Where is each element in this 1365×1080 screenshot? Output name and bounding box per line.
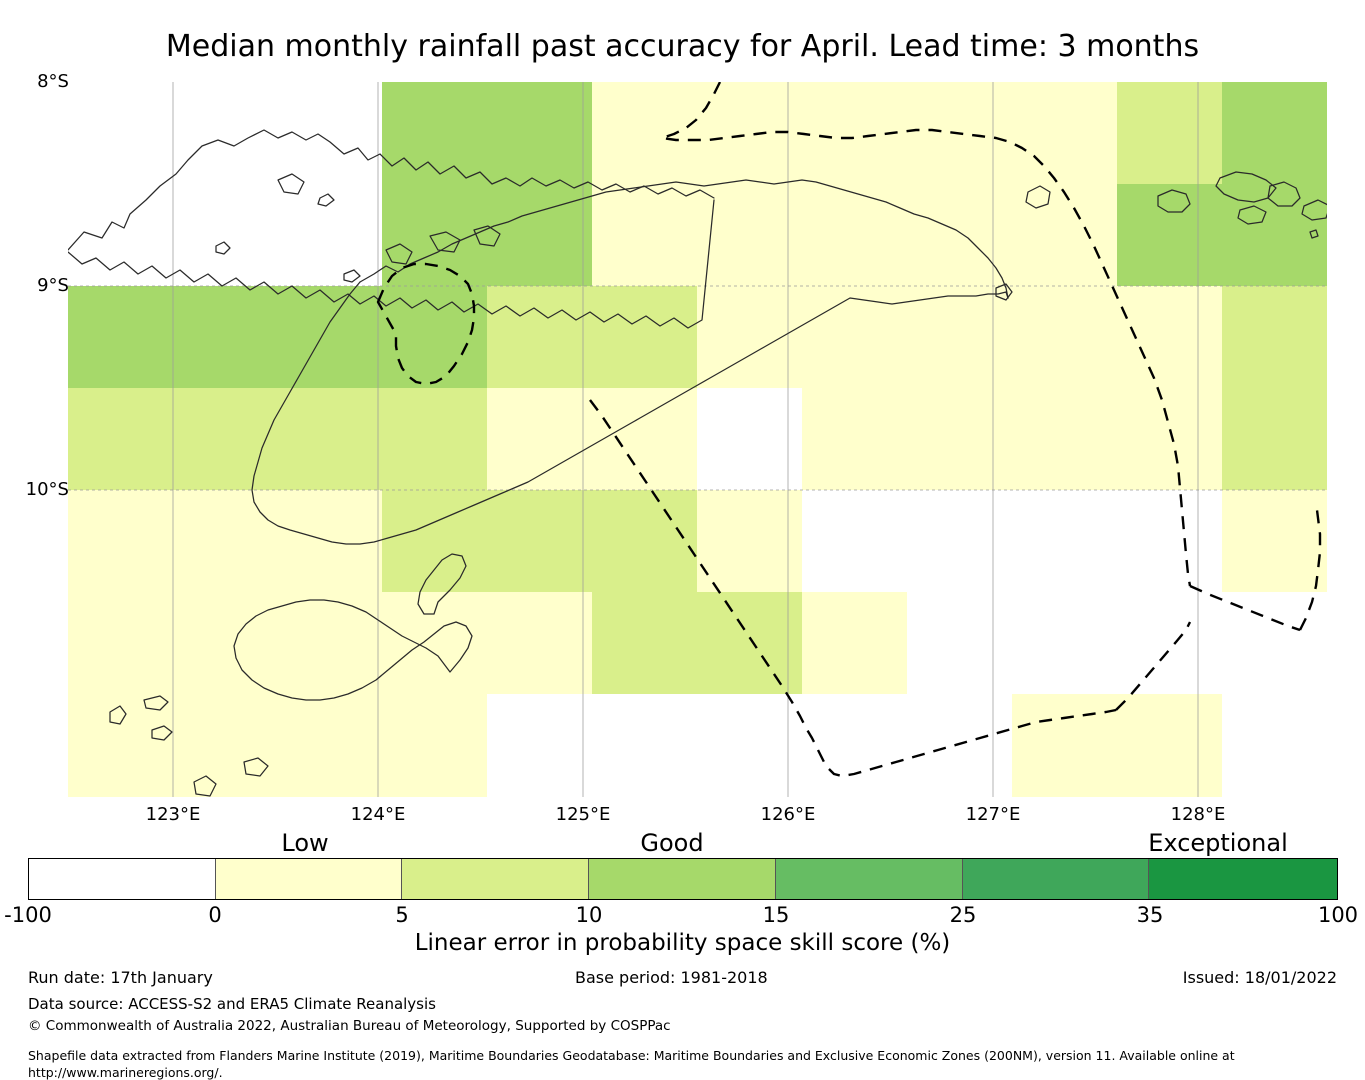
heatmap-cell [277,388,383,491]
heatmap-cell [487,388,593,491]
heatmap-cell [172,490,278,593]
colorbar-quality-label: Good [640,830,703,856]
heatmap-cell-grid [68,82,1327,797]
x-axis-tick-label: 126°E [761,806,816,824]
heatmap-cell [1222,490,1327,593]
heatmap-cell [68,694,173,797]
heatmap-cell [1117,592,1223,695]
heatmap-cell [907,490,1013,593]
heatmap-cell [382,592,488,695]
x-axis-tick-label: 128°E [1171,806,1226,824]
heatmap-cell [907,184,1013,287]
heatmap-cell [1012,82,1118,185]
heatmap-cell [1222,82,1327,185]
heatmap-cell [1222,286,1327,389]
shapefile-credit-line-1: Shapefile data extracted from Flanders M… [28,1048,1235,1063]
colorbar-tick-label: 35 [1137,904,1164,926]
heatmap-cell [277,592,383,695]
map-plot-area [68,82,1327,797]
heatmap-cell [1222,592,1327,695]
heatmap-cell [487,286,593,389]
heatmap-cell [487,490,593,593]
heatmap-cell [382,184,488,287]
x-axis-tick-label: 124°E [351,806,406,824]
heatmap-cell [172,388,278,491]
heatmap-cell [68,592,173,695]
heatmap-cell [907,694,1013,797]
colorbar-segment [1149,859,1337,899]
heatmap-cell [1012,184,1118,287]
heatmap-cell [802,286,908,389]
colorbar-segment [963,859,1150,899]
issued-date-text: Issued: 18/01/2022 [1183,969,1337,987]
colorbar-tick-label: 100 [1318,904,1358,926]
heatmap-cell [592,490,698,593]
y-axis-tick-label: 9°S [37,277,69,295]
heatmap-cell [592,82,698,185]
heatmap-cell [697,286,803,389]
footer: Run date: 17th January Base period: 1981… [0,965,1365,1080]
heatmap-cell [1117,388,1223,491]
heatmap-cell [382,490,488,593]
heatmap-cell [907,592,1013,695]
page-title: Median monthly rainfall past accuracy fo… [0,30,1365,64]
colorbar-tick-label: 15 [763,904,790,926]
heatmap-cell [1117,286,1223,389]
heatmap-cell [172,694,278,797]
colorbar-tick-label: 10 [576,904,603,926]
heatmap-cell [382,286,488,389]
shapefile-credit-line-2: http://www.marineregions.org/. [28,1065,223,1080]
heatmap-cell [172,184,278,287]
heatmap-cell [802,184,908,287]
heatmap-cell [1117,694,1223,797]
heatmap-cell [1012,388,1118,491]
colorbar-segment [29,859,216,899]
colorbar [28,858,1338,900]
heatmap-cell [802,592,908,695]
heatmap-cell [68,184,173,287]
colorbar-segment [776,859,963,899]
heatmap-cell [802,490,908,593]
heatmap-cell [1117,82,1223,185]
heatmap-cell [592,592,698,695]
y-axis-tick-label: 8°S [37,73,69,91]
heatmap-cell [172,592,278,695]
heatmap-cell [382,388,488,491]
heatmap-cell [1012,490,1118,593]
x-axis-tick-label: 123°E [146,806,201,824]
heatmap-cell [487,694,593,797]
colorbar-segment [402,859,589,899]
colorbar-segment [589,859,776,899]
heatmap-cell [1222,388,1327,491]
data-source-text: Data source: ACCESS-S2 and ERA5 Climate … [28,996,436,1013]
heatmap-cell [907,388,1013,491]
base-period-text: Base period: 1981-2018 [575,969,768,987]
heatmap-cell [592,694,698,797]
heatmap-cell [277,184,383,287]
heatmap-cell [907,82,1013,185]
heatmap-cell [487,82,593,185]
heatmap-cell [592,388,698,491]
heatmap-cell [592,286,698,389]
x-axis-tick-label: 125°E [556,806,611,824]
heatmap-cell [697,82,803,185]
heatmap-cell [487,592,593,695]
heatmap-cell [592,184,698,287]
y-axis-tick-label: 10°S [26,481,69,499]
heatmap-cell [1222,184,1327,287]
heatmap-cell [802,388,908,491]
heatmap-cell [1117,184,1223,287]
colorbar-quality-label: Exceptional [1148,830,1288,856]
heatmap-cell [68,286,173,389]
heatmap-cell [697,592,803,695]
heatmap-cell [1222,694,1327,797]
x-axis-tick-label: 127°E [966,806,1021,824]
colorbar-tick-label: 25 [950,904,977,926]
heatmap-cell [1012,286,1118,389]
heatmap-cell [68,388,173,491]
heatmap-cell [697,184,803,287]
heatmap-cell [802,82,908,185]
heatmap-cell [68,490,173,593]
colorbar-tick-label: 5 [395,904,408,926]
heatmap-cell [697,388,803,491]
heatmap-cell [277,694,383,797]
colorbar-segment [216,859,403,899]
heatmap-cell [172,82,278,185]
colorbar-axis-label: Linear error in probability space skill … [0,930,1365,956]
colorbar-quality-label: Low [281,830,328,856]
heatmap-cell [68,82,173,185]
heatmap-cell [172,286,278,389]
heatmap-cell [382,82,488,185]
heatmap-cell [277,490,383,593]
heatmap-cell [382,694,488,797]
heatmap-cell [277,82,383,185]
heatmap-cell [1012,592,1118,695]
heatmap-cell [487,184,593,287]
heatmap-cell [697,694,803,797]
colorbar-tick-label: 0 [208,904,221,926]
run-date-text: Run date: 17th January [28,969,213,987]
heatmap-cell [697,490,803,593]
colorbar-section: LowGoodExceptional -1000510152535100 Lin… [0,830,1365,945]
copyright-text: © Commonwealth of Australia 2022, Austra… [28,1018,671,1035]
colorbar-tick-label: -100 [4,904,52,926]
heatmap-cell [907,286,1013,389]
heatmap-cell [802,694,908,797]
heatmap-cell [1117,490,1223,593]
heatmap-cell [277,286,383,389]
heatmap-cell [1012,694,1118,797]
